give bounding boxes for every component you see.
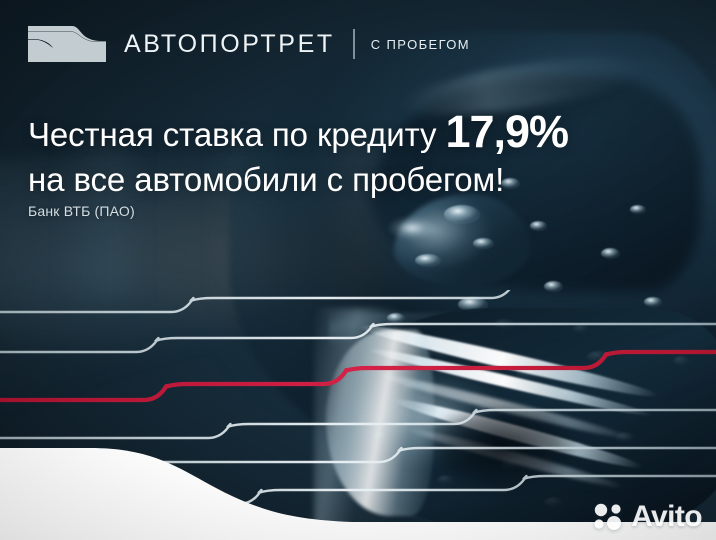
avito-dots-icon <box>592 502 626 532</box>
water-droplet <box>630 205 646 214</box>
bank-note: Банк ВТБ (ПАО) <box>28 203 135 219</box>
avito-watermark: Avito <box>592 502 702 532</box>
brand-divider <box>353 29 355 59</box>
car-mirror-glint <box>387 216 437 240</box>
credit-rate-value: 17,9% <box>445 106 568 157</box>
water-droplet <box>415 254 441 267</box>
banner-header: АВТОПОРТРЕТ С ПРОБЕГОМ <box>0 0 716 88</box>
headline-block: Честная ставка по кредиту 17,9% на все а… <box>28 104 628 201</box>
headline-line-1: Честная ставка по кредиту 17,9% <box>28 104 628 160</box>
headline-prefix: Честная ставка по кредиту <box>28 116 445 153</box>
circuit-line <box>0 324 716 352</box>
accent-line-red <box>0 352 716 400</box>
brand-name: АВТОПОРТРЕТ <box>124 32 335 57</box>
avito-wordmark: Avito <box>631 502 702 532</box>
circuit-line <box>0 290 716 312</box>
brand-subtitle: С ПРОБЕГОМ <box>371 38 470 51</box>
promo-banner: АВТОПОРТРЕТ С ПРОБЕГОМ Честная ставка по… <box>0 0 716 540</box>
brand-logo-row: АВТОПОРТРЕТ С ПРОБЕГОМ <box>28 22 470 66</box>
water-droplet <box>444 205 480 223</box>
road-stripes-logo-icon <box>28 24 106 64</box>
headline-line-2: на все автомобили с пробегом! <box>28 160 628 201</box>
